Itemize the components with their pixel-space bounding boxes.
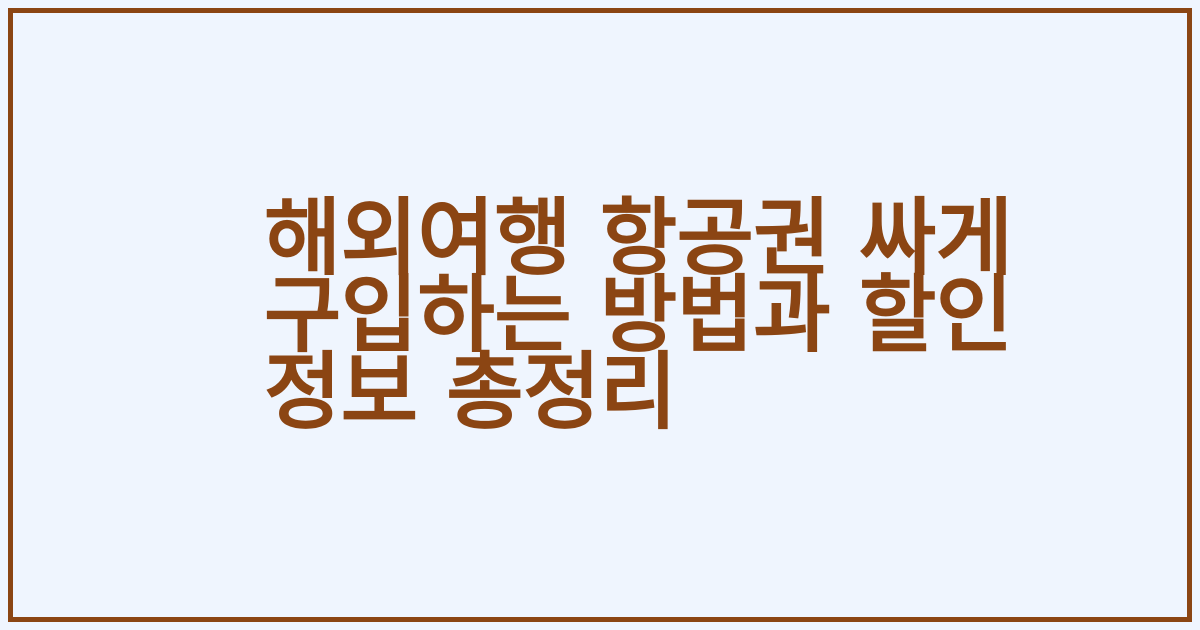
headline-block: 해외여행 항공권 싸게 구입하는 방법과 할인 정보 총정리 xyxy=(264,0,964,630)
headline-line-2: 구입하는 방법과 할인 xyxy=(264,277,964,354)
thumbnail-canvas: 해외여행 항공권 싸게 구입하는 방법과 할인 정보 총정리 xyxy=(0,0,1200,630)
headline-line-1: 해외여행 항공권 싸게 xyxy=(264,200,964,277)
headline-line-3: 정보 총정리 xyxy=(264,354,964,431)
